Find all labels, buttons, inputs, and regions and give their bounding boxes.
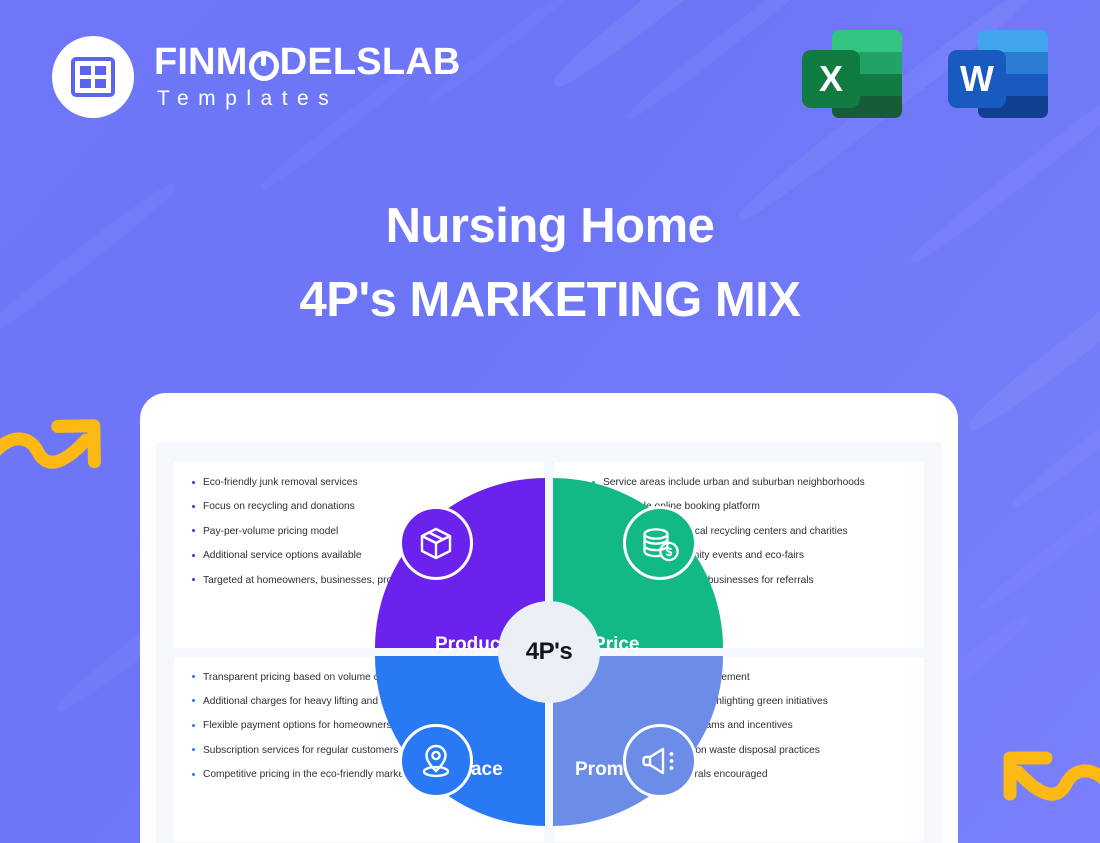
word-letter-tile: W (948, 50, 1006, 108)
quadrant-text-place: Transparent pricing based on volume coll… (174, 657, 544, 843)
logo-wordmark-pre: FINM (154, 43, 248, 83)
logo-wordmark: FINM DELSLAB (154, 43, 461, 83)
product-bullet-list: Eco-friendly junk removal services Focus… (174, 462, 544, 601)
logo-subtitle: Templates (157, 87, 461, 111)
squiggle-arrow-up-right-icon (0, 408, 132, 483)
list-item: Educational content on waste disposal pr… (590, 744, 908, 757)
page-title-line1: Nursing Home (0, 198, 1100, 254)
excel-icon[interactable]: X (802, 26, 902, 122)
list-item: Presence at community events and eco-fai… (590, 549, 908, 562)
office-format-icons: X W (802, 26, 1048, 122)
list-item: Marketing campaigns highlighting green i… (590, 695, 908, 708)
list-item: Additional charges for heavy lifting and… (190, 695, 504, 708)
grid-squares-icon (71, 55, 115, 99)
logo-wordmark-post: DELSLAB (280, 43, 461, 83)
quadrant-text-promotion: Active social media engagement Marketing… (554, 657, 924, 843)
brush-stroke (1008, 364, 1100, 512)
list-item: Transparent pricing based on volume coll… (190, 671, 504, 684)
power-symbol-icon (249, 51, 279, 81)
place-bullet-list: Transparent pricing based on volume coll… (174, 657, 544, 796)
squiggle-arrow-down-left-icon (972, 740, 1100, 815)
excel-letter-tile: X (802, 50, 860, 108)
list-item: Accessible online booking platform (590, 500, 908, 513)
quadrant-text-product: Eco-friendly junk removal services Focus… (174, 462, 544, 648)
logo-badge (52, 36, 134, 118)
promotion-bullet-list: Active social media engagement Marketing… (554, 657, 924, 796)
brand-logo[interactable]: FINM DELSLAB Templates (52, 36, 461, 118)
list-item: Flexible payment options for homeowners … (190, 719, 504, 732)
list-item: Targeted at homeowners, businesses, prop… (190, 574, 504, 587)
price-bullet-list: Service areas include urban and suburban… (554, 462, 924, 601)
list-item: Subscription services for regular custom… (190, 744, 504, 757)
list-item: Collaboration with local recycling cente… (590, 525, 908, 538)
brush-stroke (977, 480, 1100, 614)
page-title-line2: 4P's MARKETING MIX (0, 272, 1100, 328)
list-item: Pay-per-volume pricing model (190, 525, 504, 538)
word-icon[interactable]: W (948, 26, 1048, 122)
brush-stroke (547, 0, 823, 95)
list-item: Competitive pricing in the eco-friendly … (190, 768, 504, 781)
list-item: Word-of-mouth referrals encouraged (590, 768, 908, 781)
quadrant-text-price: Service areas include urban and suburban… (554, 462, 924, 648)
list-item: Additional service options available (190, 549, 504, 562)
list-item: Partnerships with local businesses for r… (590, 574, 908, 587)
list-item: Customer loyalty programs and incentives (590, 719, 908, 732)
infographic-canvas: FINM DELSLAB Templates X W Nursing Home … (0, 0, 1100, 843)
content-card: Eco-friendly junk removal services Focus… (140, 393, 958, 843)
list-item: Service areas include urban and suburban… (590, 476, 908, 489)
diagram-panel: Eco-friendly junk removal services Focus… (156, 442, 942, 843)
list-item: Eco-friendly junk removal services (190, 476, 504, 489)
quadrant-grid: Eco-friendly junk removal services Focus… (174, 462, 924, 842)
list-item: Focus on recycling and donations (190, 500, 504, 513)
list-item: Active social media engagement (590, 671, 908, 684)
